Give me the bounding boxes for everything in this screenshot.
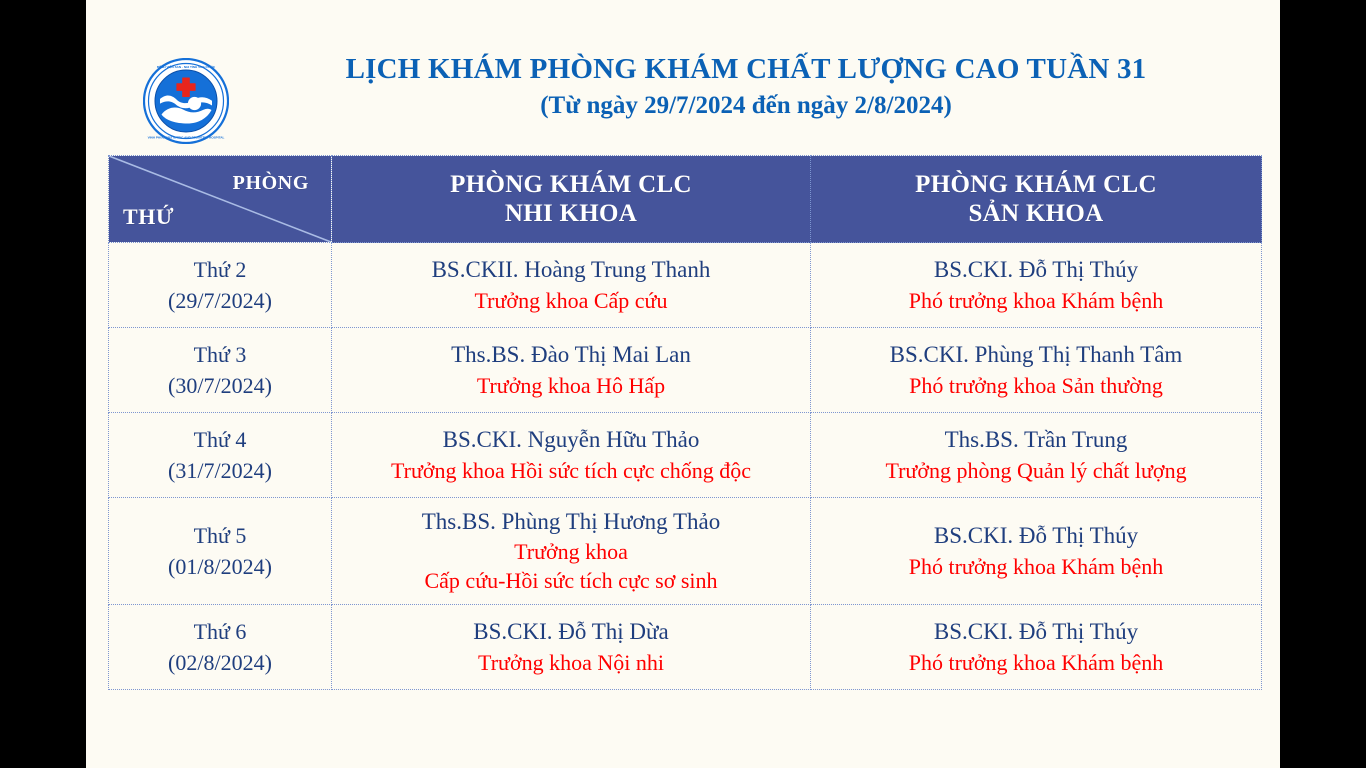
doctor-name: Ths.BS. Đào Thị Mai Lan xyxy=(332,340,810,371)
doctor-name: BS.CKII. Hoàng Trung Thanh xyxy=(332,255,810,286)
doctor-name: Ths.BS. Trần Trung xyxy=(811,425,1261,456)
letterbox-left xyxy=(0,0,86,768)
column-header-san-khoa: PHÒNG KHÁM CLC SẢN KHOA xyxy=(811,156,1262,243)
doctor-role: Phó trưởng khoa Khám bệnh xyxy=(811,648,1261,677)
column-header-nhi-khoa: PHÒNG KHÁM CLC NHI KHOA xyxy=(332,156,811,243)
title-block: LỊCH KHÁM PHÒNG KHÁM CHẤT LƯỢNG CAO TUẦN… xyxy=(246,52,1246,122)
letterbox-right xyxy=(1280,0,1366,768)
doctor-name: Ths.BS. Phùng Thị Hương Thảo xyxy=(332,507,810,538)
table-row: Thứ 4 (31/7/2024) BS.CKI. Nguyễn Hữu Thả… xyxy=(109,413,1262,498)
doctor-role: Trưởng khoa Nội nhi xyxy=(332,648,810,677)
day-cell: Thứ 6 (02/8/2024) xyxy=(109,605,332,690)
table-header-row: PHÒNG THỨ PHÒNG KHÁM CLC NHI KHOA PHÒNG … xyxy=(109,156,1262,243)
doctor-cell-nhi: BS.CKI. Nguyễn Hữu Thảo Trưởng khoa Hồi … xyxy=(332,413,811,498)
doctor-name: BS.CKI. Phùng Thị Thanh Tâm xyxy=(811,340,1261,371)
table-header: PHÒNG THỨ PHÒNG KHÁM CLC NHI KHOA PHÒNG … xyxy=(109,156,1262,243)
slide-header: BỆNH VIỆN SẢN - NHI TỈNH VĨNH PHÚC VINH … xyxy=(86,0,1280,150)
screen-root: BỆNH VIỆN SẢN - NHI TỈNH VĨNH PHÚC VINH … xyxy=(0,0,1366,768)
doctor-cell-san: BS.CKI. Đỗ Thị Thúy Phó trưởng khoa Khám… xyxy=(811,498,1262,605)
doctor-role: Trưởng phòng Quản lý chất lượng xyxy=(811,456,1261,485)
doctor-role: Trưởng khoa xyxy=(332,537,810,566)
table-row: Thứ 3 (30/7/2024) Ths.BS. Đào Thị Mai La… xyxy=(109,328,1262,413)
doctor-name: BS.CKI. Đỗ Thị Thúy xyxy=(811,617,1261,648)
doctor-role-extra: Cấp cứu-Hồi sức tích cực sơ sinh xyxy=(332,566,810,595)
table-row: Thứ 5 (01/8/2024) Ths.BS. Phùng Thị Hươn… xyxy=(109,498,1262,605)
column-header-san-line1: PHÒNG KHÁM CLC xyxy=(811,170,1261,200)
day-cell: Thứ 5 (01/8/2024) xyxy=(109,498,332,605)
day-cell: Thứ 3 (30/7/2024) xyxy=(109,328,332,413)
day-date: (02/8/2024) xyxy=(109,647,331,678)
day-name: Thứ 4 xyxy=(109,424,331,455)
doctor-name: BS.CKI. Đỗ Thị Thúy xyxy=(811,255,1261,286)
svg-text:BỆNH VIỆN SẢN - NHI TỈNH VĨNH: BỆNH VIỆN SẢN - NHI TỈNH VĨNH PHÚC xyxy=(157,64,216,69)
column-header-nhi-line2: NHI KHOA xyxy=(332,199,810,229)
doctor-name: BS.CKI. Đỗ Thị Dừa xyxy=(332,617,810,648)
day-name: Thứ 5 xyxy=(109,520,331,551)
table-row: Thứ 6 (02/8/2024) BS.CKI. Đỗ Thị Dừa Trư… xyxy=(109,605,1262,690)
doctor-cell-san: BS.CKI. Đỗ Thị Thúy Phó trưởng khoa Khám… xyxy=(811,605,1262,690)
table-body: Thứ 2 (29/7/2024) BS.CKII. Hoàng Trung T… xyxy=(109,243,1262,690)
doctor-name: BS.CKI. Đỗ Thị Thúy xyxy=(811,521,1261,552)
corner-label-room: PHÒNG xyxy=(233,172,309,195)
day-name: Thứ 6 xyxy=(109,616,331,647)
doctor-cell-nhi: BS.CKI. Đỗ Thị Dừa Trưởng khoa Nội nhi xyxy=(332,605,811,690)
column-header-nhi-line1: PHÒNG KHÁM CLC xyxy=(332,170,810,200)
day-date: (29/7/2024) xyxy=(109,285,331,316)
doctor-cell-san: BS.CKI. Phùng Thị Thanh Tâm Phó trưởng k… xyxy=(811,328,1262,413)
day-cell: Thứ 2 (29/7/2024) xyxy=(109,243,332,328)
doctor-role: Phó trưởng khoa Khám bệnh xyxy=(811,286,1261,315)
doctor-role: Trưởng khoa Cấp cứu xyxy=(332,286,810,315)
day-name: Thứ 2 xyxy=(109,254,331,285)
doctor-role: Trưởng khoa Hô Hấp xyxy=(332,371,810,400)
doctor-role: Phó trưởng khoa Khám bệnh xyxy=(811,552,1261,581)
doctor-role: Phó trưởng khoa Sản thường xyxy=(811,371,1261,400)
day-date: (31/7/2024) xyxy=(109,455,331,486)
day-date: (30/7/2024) xyxy=(109,370,331,401)
day-cell: Thứ 4 (31/7/2024) xyxy=(109,413,332,498)
doctor-cell-nhi: Ths.BS. Đào Thị Mai Lan Trưởng khoa Hô H… xyxy=(332,328,811,413)
doctor-name: BS.CKI. Nguyễn Hữu Thảo xyxy=(332,425,810,456)
column-header-san-line2: SẢN KHOA xyxy=(811,199,1261,229)
corner-header-cell: PHÒNG THỨ xyxy=(109,156,332,243)
day-date: (01/8/2024) xyxy=(109,551,331,582)
table-row: Thứ 2 (29/7/2024) BS.CKII. Hoàng Trung T… xyxy=(109,243,1262,328)
corner-label-day: THỨ xyxy=(123,204,174,230)
doctor-role: Trưởng khoa Hồi sức tích cực chống độc xyxy=(332,456,810,485)
page-title: LỊCH KHÁM PHÒNG KHÁM CHẤT LƯỢNG CAO TUẦN… xyxy=(246,52,1246,87)
page-subtitle: (Từ ngày 29/7/2024 đến ngày 2/8/2024) xyxy=(246,90,1246,121)
doctor-cell-nhi: BS.CKII. Hoàng Trung Thanh Trưởng khoa C… xyxy=(332,243,811,328)
svg-text:VINH PHUC OBSTETRIC AND PEDIAT: VINH PHUC OBSTETRIC AND PEDIATRIC HOSPIT… xyxy=(148,135,225,139)
schedule-table: PHÒNG THỨ PHÒNG KHÁM CLC NHI KHOA PHÒNG … xyxy=(108,155,1262,690)
slide-canvas: BỆNH VIỆN SẢN - NHI TỈNH VĨNH PHÚC VINH … xyxy=(86,0,1280,768)
day-name: Thứ 3 xyxy=(109,339,331,370)
doctor-cell-nhi: Ths.BS. Phùng Thị Hương Thảo Trưởng khoa… xyxy=(332,498,811,605)
doctor-cell-san: Ths.BS. Trần Trung Trưởng phòng Quản lý … xyxy=(811,413,1262,498)
doctor-cell-san: BS.CKI. Đỗ Thị Thúy Phó trưởng khoa Khám… xyxy=(811,243,1262,328)
hospital-logo-icon: BỆNH VIỆN SẢN - NHI TỈNH VĨNH PHÚC VINH … xyxy=(143,58,229,144)
